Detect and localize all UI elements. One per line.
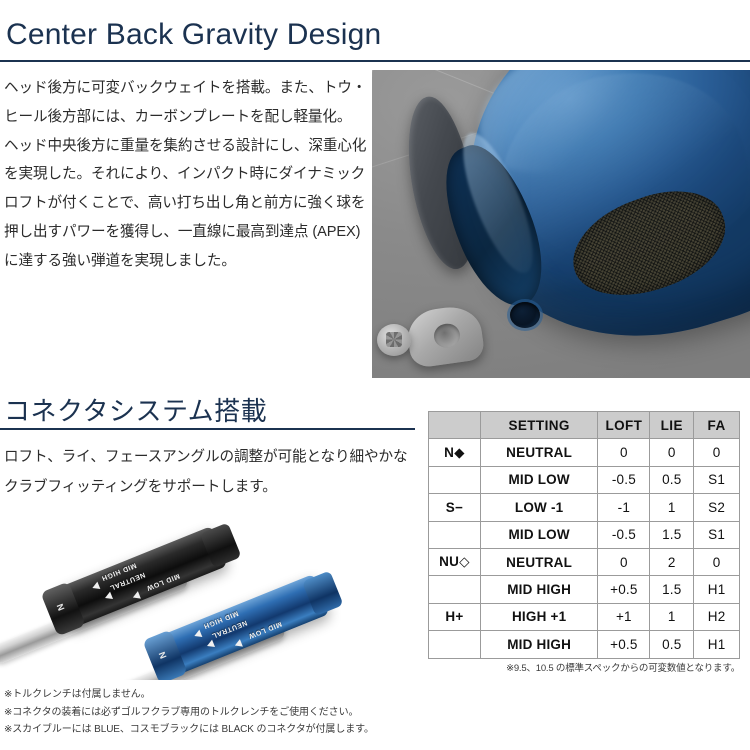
table-row: MID LOW -0.5 1.5 S1: [429, 521, 740, 548]
section-title-connector-system: コネクタシステム搭載: [4, 391, 267, 428]
cell-lie: 0.5: [650, 631, 694, 658]
cell-loft: +0.5: [598, 576, 650, 603]
cell-loft: -0.5: [598, 521, 650, 548]
cell-mark: NU◇: [429, 548, 481, 575]
cell-loft: 0: [598, 439, 650, 466]
cell-setting: HIGH +1: [480, 603, 598, 630]
cell-mark: [429, 466, 481, 493]
cell-lie: 0.5: [650, 466, 694, 493]
footnote-line: ※コネクタの装着には必ずゴルフクラブ専用のトルクレンチをご使用ください。: [4, 704, 424, 722]
cell-lie: 1: [650, 603, 694, 630]
section-2-paragraph: ロフト、ライ、フェースアングルの調整が可能となり細やかな クラブフィッティングを…: [4, 442, 404, 502]
cell-lie: 1.5: [650, 521, 694, 548]
cell-fa: H2: [694, 603, 740, 630]
paragraph-line: 押し出すパワーを獲得し、一直線に最高到達点 (APEX): [4, 218, 360, 247]
cell-setting: MID HIGH: [480, 631, 598, 658]
arrow-icon: [104, 592, 113, 602]
paragraph-line: を実現した。それにより、インパクト時にダイナミック: [4, 160, 360, 189]
paragraph-line: クラブフィッティングをサポートします。: [4, 472, 404, 502]
table-row: H+ HIGH +1 +1 1 H2: [429, 603, 740, 630]
footnote-line: ※スカイブルーには BLUE、コスモブラックには BLACK のコネクタが付属し…: [4, 721, 424, 739]
cell-mark: N◆: [429, 439, 481, 466]
column-header-setting: SETTING: [480, 412, 598, 439]
table-row: MID LOW -0.5 0.5 S1: [429, 466, 740, 493]
settings-spec-table: SETTING LOFT LIE FA N◆ NEUTRAL 0 0 0 MID…: [428, 411, 740, 659]
column-header-mark: [429, 412, 481, 439]
arrow-icon: [193, 630, 202, 640]
connector-sleeves-image: MID HIGH NEUTRAL MID LOW N MID HIGH NEUT…: [0, 512, 420, 680]
cell-setting: MID LOW: [480, 521, 598, 548]
cell-setting: NEUTRAL: [480, 439, 598, 466]
arrow-icon: [233, 639, 242, 649]
cell-fa: S1: [694, 466, 740, 493]
cell-fa: H1: [694, 631, 740, 658]
paragraph-line: ヘッド中央後方に重量を集約させる設計にし、深重心化: [4, 132, 360, 161]
paragraph-line: ヒール後方部には、カーボンプレートを配し軽量化。: [4, 103, 360, 132]
weight-screw-part: [377, 324, 411, 356]
cell-setting: NEUTRAL: [480, 548, 598, 575]
connector-sleeve-black: MID HIGH NEUTRAL MID LOW N: [54, 526, 228, 630]
sleeve-cap: [200, 523, 242, 569]
product-spec-page: Center Back Gravity Design ヘッド後方に可変バックウェ…: [0, 0, 750, 750]
arrow-icon: [131, 591, 140, 601]
table-row: S− LOW -1 -1 1 S2: [429, 494, 740, 521]
cell-lie: 2: [650, 548, 694, 575]
page-footnotes: ※トルクレンチは付属しません。 ※コネクタの装着には必ずゴルフクラブ専用のトルク…: [4, 686, 424, 739]
table-row: MID HIGH +0.5 1.5 H1: [429, 576, 740, 603]
cell-loft: -0.5: [598, 466, 650, 493]
table-row: N◆ NEUTRAL 0 0 0: [429, 439, 740, 466]
cell-lie: 0: [650, 439, 694, 466]
cell-lie: 1: [650, 494, 694, 521]
table-header-row: SETTING LOFT LIE FA: [429, 412, 740, 439]
cell-mark: [429, 521, 481, 548]
section-title-center-back-gravity-design: Center Back Gravity Design: [6, 18, 381, 52]
sleeve-cap: [302, 571, 344, 617]
cell-fa: S1: [694, 521, 740, 548]
paragraph-line: ロフトが付くことで、高い打ち出し角と前方に強く球を: [4, 189, 360, 218]
cell-mark: [429, 576, 481, 603]
arrow-icon: [91, 582, 100, 592]
cell-loft: +0.5: [598, 631, 650, 658]
cell-loft: -1: [598, 494, 650, 521]
paragraph-line: ヘッド後方に可変バックウェイトを搭載。また、トウ・: [4, 74, 360, 103]
cell-mark: S−: [429, 494, 481, 521]
paragraph-line: に達する強い弾道を実現しました。: [4, 247, 360, 276]
cell-mark: H+: [429, 603, 481, 630]
section-divider-2: [0, 428, 415, 430]
section-divider-1: [0, 60, 750, 62]
section-1-paragraph: ヘッド後方に可変バックウェイトを搭載。また、トウ・ ヒール後方部には、カーボンプ…: [4, 74, 360, 276]
cell-setting: LOW -1: [480, 494, 598, 521]
weight-port: [510, 302, 540, 328]
cell-loft: +1: [598, 603, 650, 630]
cell-fa: S2: [694, 494, 740, 521]
cell-fa: 0: [694, 439, 740, 466]
cell-setting: MID HIGH: [480, 576, 598, 603]
paragraph-line: ロフト、ライ、フェースアングルの調整が可能となり細やかな: [4, 442, 404, 472]
driver-head-render-image: [372, 70, 750, 378]
cell-mark: [429, 631, 481, 658]
cell-fa: H1: [694, 576, 740, 603]
table-row: MID HIGH +0.5 0.5 H1: [429, 631, 740, 658]
cell-setting: MID LOW: [480, 466, 598, 493]
cell-loft: 0: [598, 548, 650, 575]
arrow-icon: [206, 640, 215, 650]
column-header-fa: FA: [694, 412, 740, 439]
cell-fa: 0: [694, 548, 740, 575]
table-row: NU◇ NEUTRAL 0 2 0: [429, 548, 740, 575]
column-header-loft: LOFT: [598, 412, 650, 439]
column-header-lie: LIE: [650, 412, 694, 439]
cell-lie: 1.5: [650, 576, 694, 603]
footnote-line: ※トルクレンチは付属しません。: [4, 686, 424, 704]
table-footnote: ※9.5、10.5 の標準スペックからの可変数値となります。: [428, 660, 740, 674]
